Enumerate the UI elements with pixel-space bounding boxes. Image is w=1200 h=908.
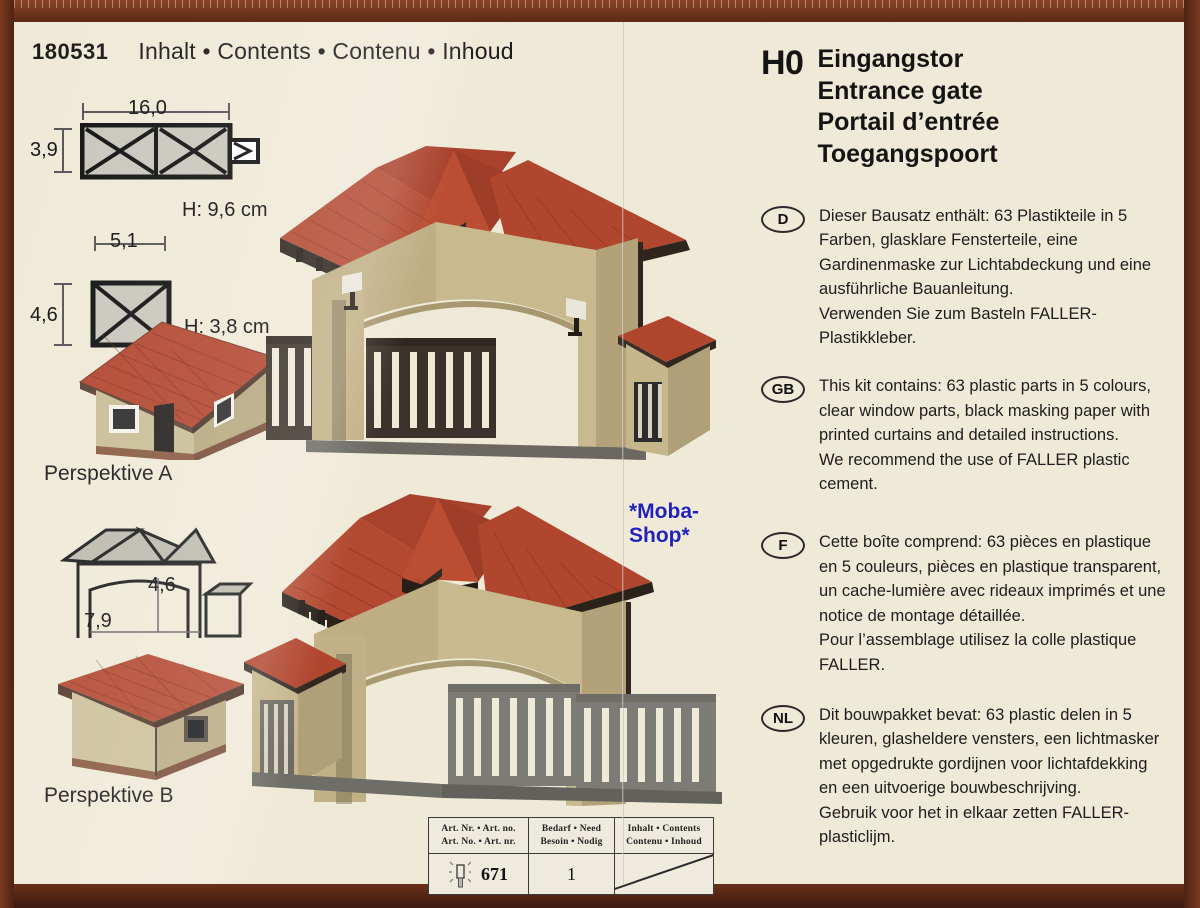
dim-tick	[228, 103, 230, 120]
header-artno-line1: Art. Nr. • Art. no.	[441, 823, 515, 836]
gate-height-note: H: 9,6 cm	[182, 199, 268, 222]
photo-gate-a	[266, 130, 716, 460]
header-need-line1: Bedarf • Need	[542, 823, 601, 836]
description-gb: This kit contains: 63 plastic parts in 5…	[819, 374, 1166, 496]
parts-table-header-artno: Art. Nr. • Art. no. Art. No. • Art. nr.	[429, 818, 529, 853]
product-title-row: H0 Eingangstor Entrance gate Portail d’e…	[761, 44, 1166, 170]
dim-tick	[82, 103, 84, 120]
parts-table-header: Art. Nr. • Art. no. Art. No. • Art. nr. …	[429, 818, 713, 854]
frame-left	[0, 0, 14, 908]
title-fr: Portail d’entrée	[817, 107, 999, 139]
dim-width-label-1: 16,0	[128, 97, 167, 120]
language-block-gb: GB This kit contains: 63 plastic parts i…	[761, 374, 1166, 496]
elevation-height-label: 4,6	[148, 574, 176, 597]
dim-tick	[54, 283, 72, 285]
caption-perspektive-a: Perspektive A	[44, 462, 172, 486]
ruler-ticks	[0, 0, 1200, 8]
elevation-width-label: 7,9	[84, 610, 112, 633]
article-number: 180531	[32, 39, 108, 65]
title-de: Eingangstor	[817, 44, 999, 76]
photo-guardhouse-b	[36, 640, 251, 785]
flag-badge-gb: GB	[761, 376, 805, 403]
diagonal-strike	[615, 854, 713, 892]
header-contents-line2: Contenu • Inhoud	[626, 836, 702, 849]
right-panel: H0 Eingangstor Entrance gate Portail d’e…	[733, 22, 1184, 884]
flag-badge-f: F	[761, 532, 805, 559]
product-titles: Eingangstor Entrance gate Portail d’entr…	[817, 44, 999, 170]
parts-row-quantity: 1	[567, 864, 576, 885]
packaging-sheet: 180531 Inhalt • Contents • Contenu • Inh…	[0, 0, 1200, 908]
product-card: 180531 Inhalt • Contents • Contenu • Inh…	[14, 22, 1184, 884]
header-artno-line2: Art. No. • Art. nr.	[441, 836, 515, 849]
dim-height-label-2: 4,6	[30, 304, 58, 327]
frame-right	[1184, 0, 1200, 908]
title-en: Entrance gate	[817, 76, 999, 108]
left-header: 180531 Inhalt • Contents • Contenu • Inh…	[32, 38, 723, 65]
dim-tick	[164, 236, 166, 251]
left-panel: 180531 Inhalt • Contents • Contenu • Inh…	[14, 22, 733, 884]
description-fr: Cette boîte comprend: 63 pièces en plast…	[819, 530, 1166, 676]
description-de: Dieser Bausatz enthält: 63 Plastikteile …	[819, 204, 1166, 350]
caption-perspektive-b: Perspektive B	[44, 784, 174, 808]
table-row: 671 1	[429, 854, 713, 894]
parts-table: Art. Nr. • Art. no. Art. No. • Art. nr. …	[428, 817, 714, 895]
dim-tick	[54, 128, 72, 130]
language-block-nl: NL Dit bouwpakket bevat: 63 plastic dele…	[761, 703, 1166, 849]
description-nl: Dit bouwpakket bevat: 63 plastic delen i…	[819, 703, 1166, 849]
contents-heading: Inhalt • Contents • Contenu • Inhoud	[138, 38, 513, 65]
parts-row-article-number: 671	[481, 864, 508, 885]
parts-table-header-contents: Inhalt • Contents Contenu • Inhoud	[615, 818, 713, 853]
flag-badge-nl: NL	[761, 705, 805, 732]
watermark: *Moba-Shop*	[629, 500, 733, 548]
dim-width-label-2: 5,1	[110, 230, 138, 253]
language-block-fr: F Cette boîte comprend: 63 pièces en pla…	[761, 530, 1166, 676]
header-contents-line1: Inhalt • Contents	[628, 823, 701, 836]
title-nl: Toegangspoort	[817, 139, 999, 171]
photo-guardhouse-a	[62, 310, 292, 460]
scale-badge: H0	[761, 44, 803, 83]
parts-table-header-need: Bedarf • Need Besoin • Nodig	[529, 818, 615, 853]
header-need-line2: Besoin • Nodig	[540, 836, 602, 849]
dim-height-line-1	[62, 129, 64, 173]
parts-row-contents-cell	[615, 854, 713, 894]
flag-badge-d: D	[761, 206, 805, 233]
parts-row-artno-cell: 671	[429, 854, 529, 894]
language-block-de: D Dieser Bausatz enthält: 63 Plastikteil…	[761, 204, 1166, 350]
lamp-icon	[449, 859, 471, 889]
parts-row-quantity-cell: 1	[529, 854, 615, 894]
dim-tick	[54, 171, 72, 173]
dim-height-label-1: 3,9	[30, 139, 58, 162]
dim-tick	[94, 236, 96, 251]
